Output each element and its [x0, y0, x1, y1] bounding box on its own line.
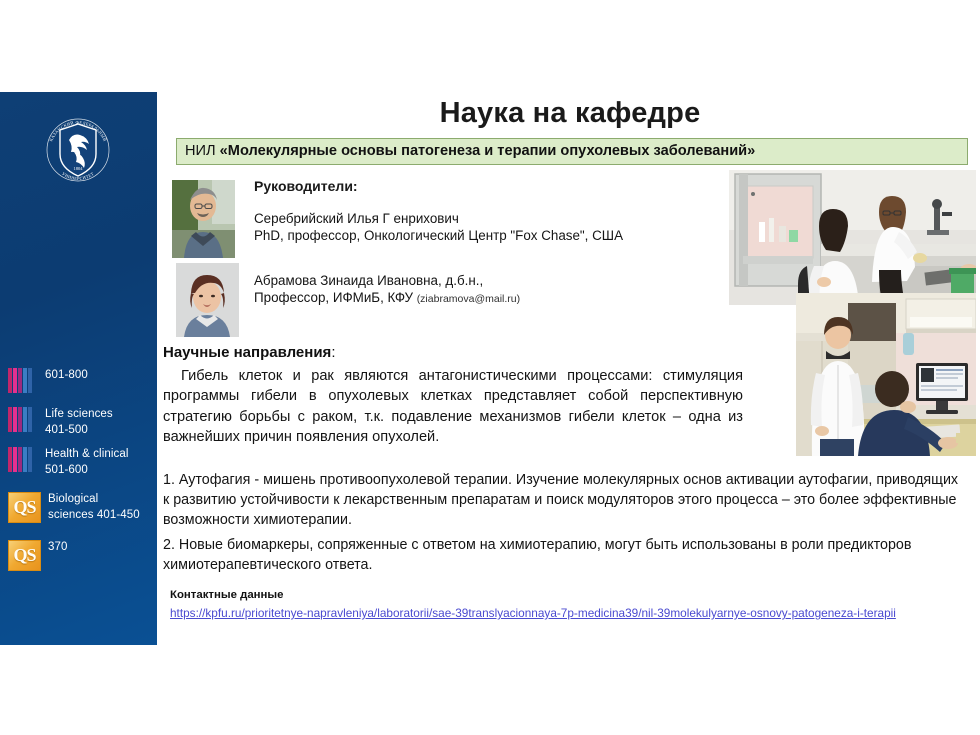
leader-name: Абрамова Зинаида Ивановна, д.б.н., [254, 272, 520, 289]
ranking-row-the-health-clinical: Health & clinical 501-600 [8, 447, 129, 478]
lab-banner-prefix: НИЛ [185, 143, 220, 159]
ranking-value: Life sciences 401-500 [45, 407, 113, 438]
ranking-row-qs-overall: QS 370 [8, 540, 68, 571]
svg-text:1804: 1804 [74, 166, 84, 171]
ranking-row-the-life-sciences: Life sciences 401-500 [8, 407, 113, 438]
ranking-value: Biological sciences 401-450 [48, 492, 140, 523]
directions-intro-paragraph: Гибель клеток и рак являются антагонисти… [163, 366, 743, 447]
lab-photo-two-researchers [729, 170, 976, 305]
leader-entry-2: Абрамова Зинаида Ивановна, д.б.н., Профе… [254, 272, 520, 308]
ranking-row-qs-biological-sciences: QS Biological sciences 401-450 [8, 492, 140, 523]
leader-role: Профессор, ИФМиБ, КФУ (ziabramova@mail.r… [254, 289, 520, 308]
ranking-value: Health & clinical 501-600 [45, 447, 129, 478]
the-logo-icon [8, 407, 38, 432]
directions-heading: Научные направления: [163, 344, 335, 361]
leader-entry-1: Серебрийский Илья Г енрихович PhD, профе… [254, 210, 623, 244]
lab-banner-name: «Молекулярные основы патогенеза и терапи… [220, 143, 756, 159]
lab-photo-computer-workstation [796, 293, 976, 456]
contacts-url-link[interactable]: https://kpfu.ru/prioritetnye-napravleniy… [170, 606, 960, 622]
ranking-value: 601-800 [45, 368, 88, 384]
leader-email: (ziabramova@mail.ru) [417, 293, 520, 305]
leaders-heading: Руководители: [254, 178, 358, 194]
slide-canvas: КАЗАНСКИЙ ФЕДЕРАЛЬНЫЙ УНИВЕРСИТЕТ 1804 6… [0, 0, 980, 735]
the-logo-icon [8, 368, 38, 393]
leader-role: PhD, профессор, Онкологический Центр "Fo… [254, 227, 623, 244]
directions-item-1: 1. Аутофагия - мишень противоопухолевой … [163, 470, 963, 530]
qs-logo-icon: QS [8, 540, 41, 571]
leader-name: Серебрийский Илья Г енрихович [254, 210, 623, 227]
portrait-serebriyskiy [172, 180, 235, 258]
page-title: Наука на кафедре [170, 97, 970, 130]
directions-item-2: 2. Новые биомаркеры, сопряженные с ответ… [163, 535, 963, 575]
laboratory-name-banner: НИЛ «Молекулярные основы патогенеза и те… [176, 138, 968, 165]
ranking-value: 370 [48, 540, 68, 556]
qs-logo-icon: QS [8, 492, 41, 523]
ranking-row-the-overall: 601-800 [8, 368, 88, 393]
portrait-abramova [176, 263, 239, 337]
sidebar-panel: КАЗАНСКИЙ ФЕДЕРАЛЬНЫЙ УНИВЕРСИТЕТ 1804 6… [0, 92, 157, 645]
kfu-emblem-icon: КАЗАНСКИЙ ФЕДЕРАЛЬНЫЙ УНИВЕРСИТЕТ 1804 [38, 110, 118, 190]
the-logo-icon [8, 447, 38, 472]
contacts-label: Контактные данные [170, 589, 283, 601]
